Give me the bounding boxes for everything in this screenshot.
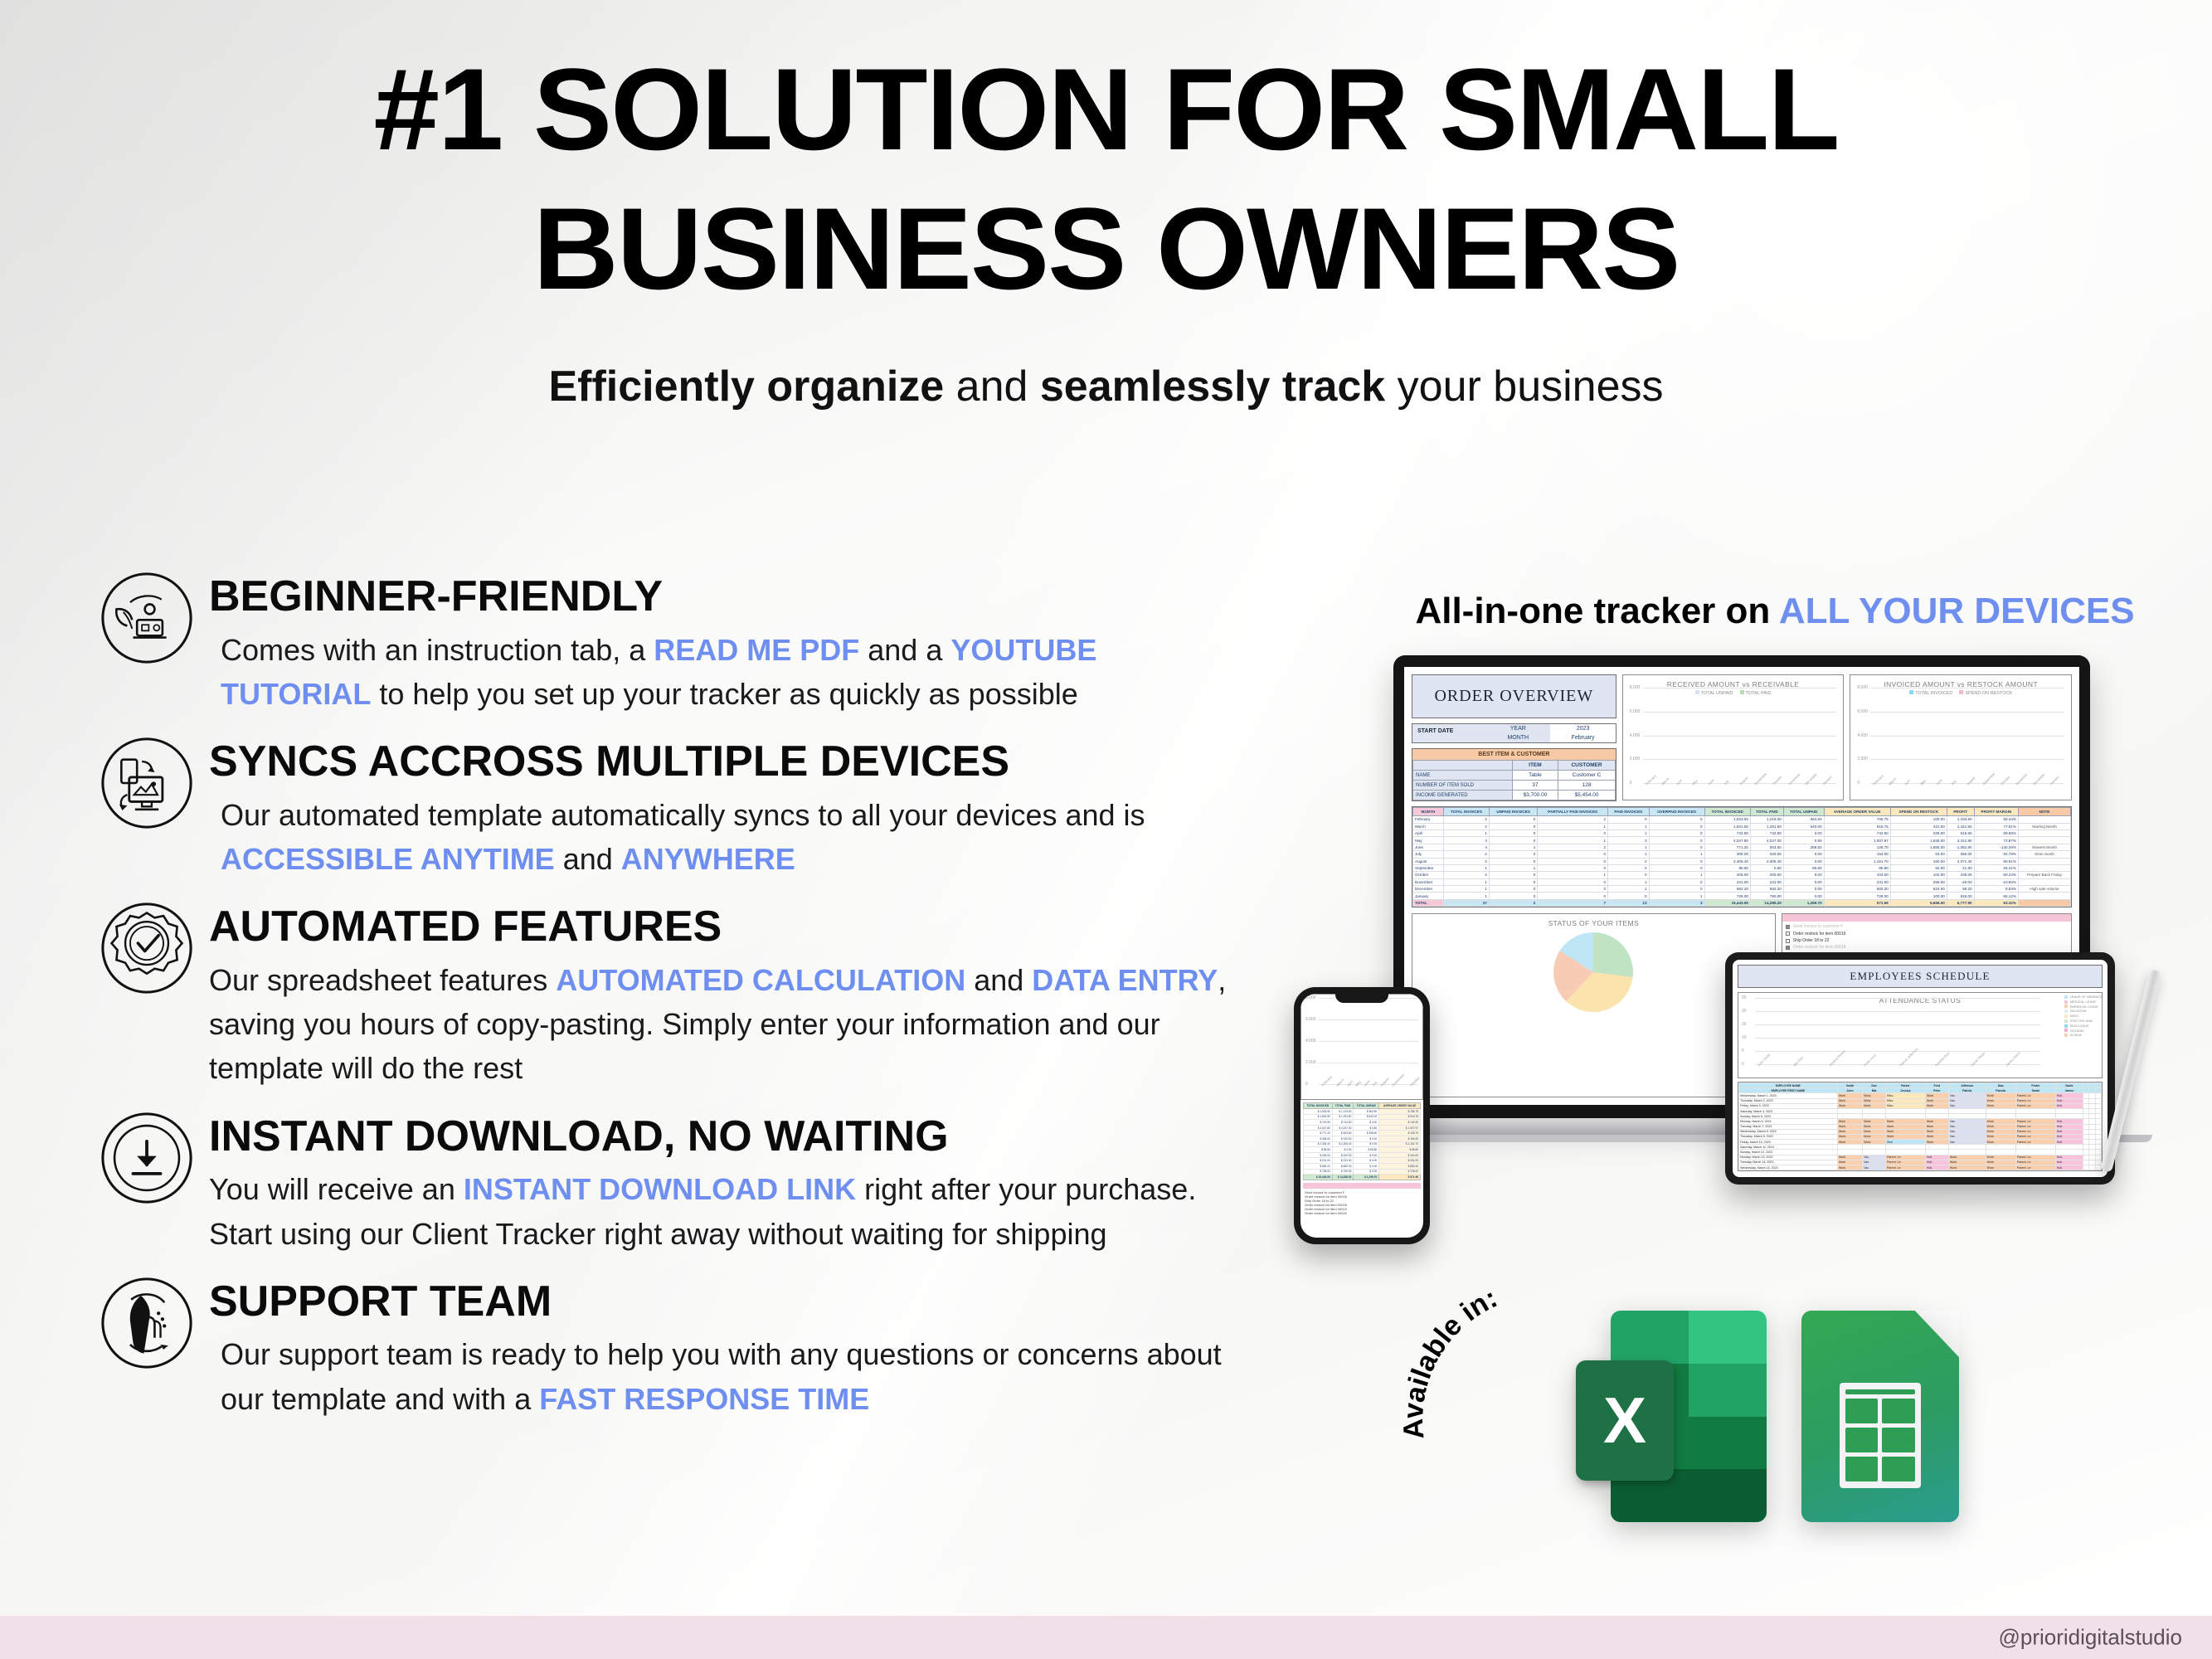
table-cell: 0	[1489, 886, 1537, 893]
y-tick: 2.000	[1630, 757, 1641, 761]
table-cell: 1,219.00	[1750, 816, 1783, 823]
table-cell: 4,047.00	[1750, 837, 1783, 844]
table-cell: 320.00	[1750, 851, 1783, 858]
table-cell: 27	[1443, 899, 1489, 906]
table-cell: 1	[1649, 851, 1704, 858]
table-cell: 0	[1489, 823, 1537, 829]
feature-body: INSTANT DOWNLOAD, NO WAITINGYou will rec…	[209, 1104, 1251, 1256]
year-value[interactable]: 2023	[1550, 724, 1615, 733]
feature-item-beginner-friendly: BEGINNER-FRIENDLYComes with an instructi…	[98, 564, 1251, 716]
feature-text: and a	[859, 633, 950, 667]
table-cell: 915.75	[1824, 823, 1890, 829]
table-cell: 728.00	[1824, 893, 1890, 899]
table-row: June41210771.20503.60268.60128.701,855.0…	[1413, 844, 2071, 850]
table-row: December10010682.20682.200.00682.20624.0…	[1413, 886, 2071, 893]
table-cell: March	[1413, 823, 1444, 829]
schedule-cell[interactable]: Parent. Le	[2015, 1170, 2055, 1171]
table-cell: -1,082.80	[1947, 844, 1974, 850]
feature-highlight[interactable]: INSTANT DOWNLOAD LINK	[464, 1172, 856, 1206]
table-cell	[2018, 864, 2070, 871]
todo-item[interactable]: Send invoice to customer F	[1786, 923, 2068, 930]
table-cell: 53.00	[1890, 851, 1947, 858]
table-row: $ 682.20$ 682.20$ 0.00$ 682.20	[1304, 1163, 1421, 1169]
table-cell: 0.00	[1783, 851, 1824, 858]
table-cell: October	[1413, 872, 1444, 878]
table-row: $ 2,305.40$ 2,305.40$ 0.00$ 1,151.70	[1304, 1141, 1421, 1147]
table-cell: 1	[1608, 851, 1650, 858]
table-cell: 200.00	[1750, 872, 1783, 878]
table-cell: 77.61%	[1974, 823, 2018, 829]
table-cell: 1	[1443, 886, 1489, 893]
table-row: July20011308.00320.000.00154.0053.00255.…	[1413, 851, 2071, 858]
schedule-cell[interactable]: Holi.	[1925, 1170, 1948, 1171]
column-header: TOTAL INVOICES	[1443, 808, 1489, 816]
feature-text: Comes with an instruction tab, a	[221, 633, 654, 667]
table-cell: 0	[1538, 878, 1608, 885]
table-cell: High sale volume	[2018, 886, 2070, 893]
y-tick: 4.000	[1857, 733, 1868, 738]
chart-legend: LEAVE OF ABSENCEMEDICAL LEAVEPARENTAL LE…	[2064, 995, 2103, 1038]
column-header: AVERAGE ORDER VALUE	[1824, 808, 1890, 816]
table-cell: Starting Month	[2018, 823, 2070, 829]
table-cell: 1,421.50	[1947, 823, 1974, 829]
table-cell: 104.00	[1890, 872, 1947, 878]
table-cell: 364.50	[1783, 816, 1824, 823]
todo-item[interactable]: Order restock for item 00018	[1786, 944, 2068, 951]
chart-plot: 0510152025John SmithMia DoeJessica Parke…	[1742, 1008, 2040, 1074]
table-cell: 100.00	[1890, 893, 1947, 899]
feature-list: BEGINNER-FRIENDLYComes with an instructi…	[98, 564, 1251, 1434]
y-tick: 8.000	[1305, 995, 1316, 1000]
y-tick: 6.000	[1630, 709, 1641, 714]
table-cell: 3	[1608, 837, 1650, 844]
table-row: $ 308.00$ 320.00$ 0.00$ 154.00	[1304, 1136, 1421, 1141]
table-cell: 1,533.50	[1704, 816, 1750, 823]
table-row: February202001,533.501,219.00364.50766.7…	[1413, 816, 2071, 823]
table-cell: 0.00	[1783, 830, 1824, 837]
subtitle-bold-2: seamlessly track	[1040, 362, 1385, 411]
table-cell	[2018, 893, 2070, 899]
chart-received-vs-receivable: RECEIVED AMOUNT vs RECEIVABLETOTAL UNPAI…	[1622, 674, 1845, 800]
footer-bar: @prioridigitalstudio	[0, 1616, 2212, 1659]
subtitle-tail: your business	[1385, 362, 1663, 411]
table-row: $ 209.00$ 200.00$ 9.00$ 104.00	[1304, 1152, 1421, 1158]
seedling-laptop-icon	[98, 569, 196, 667]
table-cell: -140.25%	[1974, 844, 2018, 850]
table-cell: 0.00	[1750, 864, 1783, 871]
table-cell	[2018, 837, 2070, 844]
table-row: April10010742.50742.500.00742.50226.0051…	[1413, 830, 2071, 837]
table-cell: 1,007.97	[1824, 837, 1890, 844]
todo-item[interactable]: Order restock for item 00016	[1786, 931, 2068, 937]
table-cell: 0	[1489, 837, 1537, 844]
table-cell: August	[1413, 858, 1444, 864]
feature-text: to help you set up your tracker as quick…	[371, 677, 1077, 711]
best-col-header: ITEM	[1512, 761, 1558, 771]
legend-entry: TOTAL PAID	[1740, 690, 1772, 696]
feature-title: INSTANT DOWNLOAD, NO WAITING	[209, 1114, 1251, 1160]
table-cell: 231.00	[1824, 878, 1890, 885]
table-row: October20101209.00200.009.00104.00104.00…	[1413, 872, 2071, 878]
column-header: TOTAL PAID	[1750, 808, 1783, 816]
table-cell: 1	[1538, 823, 1608, 829]
table-row: NAMETableCustomer C	[1413, 771, 1616, 781]
feature-highlight[interactable]: DATA ENTRY	[1032, 963, 1218, 997]
table-cell: 64.00	[1890, 864, 1947, 871]
feature-item-automated-features: AUTOMATED FEATURESOur spreadsheet featur…	[98, 894, 1251, 1090]
y-tick: 2.000	[1857, 757, 1868, 761]
table-cell: 8.53%	[1974, 886, 2018, 893]
status-pie-chart	[1553, 932, 1633, 1012]
table-cell: 0	[1649, 878, 1704, 885]
y-tick: 8.000	[1857, 685, 1868, 690]
page-subtitle: Efficiently organize and seamlessly trac…	[0, 362, 2212, 411]
table-cell: 2	[1538, 816, 1608, 823]
table-cell: 9.00	[1783, 872, 1824, 878]
monthly-summary-table: MONTHTOTAL INVOICESUNPAID INVOICESPARTIA…	[1412, 806, 2072, 907]
table-cell: 682.20	[1704, 886, 1750, 893]
table-row: NUMBER OF ITEM SOLD37128	[1413, 781, 1616, 791]
overview-title: ORDER OVERVIEW	[1412, 674, 1616, 718]
table-cell: 226.00	[1890, 830, 1947, 837]
table-cell: 0	[1608, 816, 1650, 823]
download-arrow-icon	[98, 1109, 196, 1207]
table-cell: 516.50	[1947, 830, 1974, 837]
schedule-date: Thursday, March 16, 2023	[1739, 1170, 1838, 1171]
table-cell: 0	[1489, 858, 1537, 864]
table-cell: -10.82%	[1974, 878, 2018, 885]
attendance-chart: ATTENDANCE STATUS0510152025John SmithMia…	[1738, 992, 2103, 1078]
feature-title: SYNCS ACCROSS MULTIPLE DEVICES	[209, 739, 1251, 785]
title-line-1: #1 SOLUTION FOR SMALL	[0, 0, 2212, 168]
table-cell: 728.00	[1704, 893, 1750, 899]
table-cell: 3	[1649, 899, 1704, 906]
table-cell: 2	[1489, 899, 1537, 906]
table-row: November10010231.00231.000.00231.00256.0…	[1413, 878, 2071, 885]
phone-table: TOTAL INVOICEDTOTAL PAIDTOTAL UNPAIDAVER…	[1300, 1100, 1423, 1183]
svg-text:Available in:: Available in:	[1398, 1282, 1502, 1441]
table-cell: 0	[1608, 872, 1650, 878]
table-cell	[2018, 816, 2070, 823]
y-tick: 8.000	[1630, 685, 1641, 690]
excel-logo-letter: X	[1576, 1360, 1674, 1481]
table-cell: 5,665.00	[1890, 899, 1947, 906]
chart-legend: TOTAL UNPAIDTOTAL PAID	[1630, 690, 1837, 696]
table-cell: 1	[1608, 844, 1650, 850]
table-row: May401304,047.804,047.000.801,007.971,63…	[1413, 837, 2071, 844]
todo-label: Send invoice to customer F	[1793, 924, 1844, 929]
table-cell: 50.24%	[1974, 872, 2018, 878]
table-cell: 4	[1443, 837, 1489, 844]
table-cell: Slow month	[2018, 851, 2070, 858]
y-tick: 0	[1305, 1082, 1308, 1087]
table-cell: 0	[1649, 837, 1704, 844]
table-cell: 1	[1489, 864, 1537, 871]
tablet-mockup: EMPLOYEES SCHEDULE ATTENDANCE STATUS0510…	[1725, 952, 2115, 1185]
table-cell: Prepare Back Friday	[2018, 872, 2070, 878]
table-cell: 1	[1443, 893, 1489, 899]
devices-headline-accent: ALL YOUR DEVICES	[1779, 591, 2135, 631]
column-header: PAID INVOICES	[1608, 808, 1650, 816]
table-cell: 1	[1443, 878, 1489, 885]
table-cell: 0.00	[1783, 878, 1824, 885]
table-cell: 0	[1489, 878, 1537, 885]
table-cell: 82.79%	[1974, 851, 2018, 858]
table-header-row: TOTAL INVOICEDTOTAL PAIDTOTAL UNPAIDAVER…	[1304, 1103, 1421, 1109]
feature-text: You will receive an	[209, 1172, 464, 1206]
y-tick: 4.000	[1305, 1039, 1316, 1044]
table-cell: 72.87%	[1974, 837, 2018, 844]
table-cell: 0.00	[1783, 886, 1824, 893]
table-cell: 1,635.00	[1890, 837, 1947, 844]
table-cell: 0	[1538, 858, 1608, 864]
feature-description: Our support team is ready to help you wi…	[209, 1332, 1251, 1421]
feature-body: SYNCS ACCROSS MULTIPLE DEVICESOur automa…	[209, 729, 1251, 881]
table-cell: 0	[1649, 886, 1704, 893]
table-cell: 85.12%	[1974, 893, 2018, 899]
schedule-cell[interactable]: Vac.	[1863, 1170, 1886, 1171]
table-cell: 0	[1489, 830, 1537, 837]
chart-plot: 02.0004.0006.0008.000FebruaryMarchAprilM…	[1630, 699, 1837, 795]
chart-legend: TOTAL INVOICEDSPEND ON RESTOCK	[1857, 690, 2064, 696]
y-tick: 6.000	[1857, 709, 1868, 714]
chart-x-labels: John SmithMia DoeJessica ParkerPeter For…	[1757, 1064, 2039, 1074]
table-cell: 1	[1608, 823, 1650, 829]
subtitle-bold-1: Efficiently organize	[548, 362, 944, 411]
month-value[interactable]: February	[1550, 733, 1615, 742]
table-cell: 105.00	[1947, 872, 1974, 878]
best-table-header: BEST ITEM & CUSTOMER	[1412, 749, 1616, 760]
feature-highlight[interactable]: READ ME PDF	[654, 633, 859, 667]
todo-label: Order restock for item 00018	[1793, 945, 1846, 950]
table-cell: 4,412.80	[1947, 837, 1974, 844]
table-cell: 1	[1538, 872, 1608, 878]
table-cell: 0.80	[1783, 837, 1824, 844]
table-cell: 2,305.40	[1704, 858, 1750, 864]
table-cell: 21.80	[1947, 864, 1974, 871]
feature-description: Our spreadsheet features AUTOMATED CALCU…	[209, 958, 1251, 1091]
table-cell: November	[1413, 878, 1444, 885]
table-cell: 13	[1608, 899, 1650, 906]
google-sheets-logo	[1801, 1311, 1959, 1522]
column-header: TOTAL UNPAID	[1783, 808, 1824, 816]
table-cell: 2,305.40	[1750, 858, 1783, 864]
schedule-cell[interactable]: Work	[1986, 1170, 2015, 1171]
feature-item-syncs-accross-multiple-devices: SYNCS ACCROSS MULTIPLE DEVICESOur automa…	[98, 729, 1251, 881]
todo-item[interactable]: Ship Order 18 to 22	[1786, 937, 2068, 944]
table-cell: -25.00	[1947, 878, 1974, 885]
table-row: INCOME GENERATED$3,700.00$5,454.00	[1413, 791, 1616, 800]
feature-body: AUTOMATED FEATURESOur spreadsheet featur…	[209, 894, 1251, 1090]
feature-highlight[interactable]: ANYWHERE	[621, 842, 795, 876]
table-row: August200202,305.402,305.400.001,151.701…	[1413, 858, 2071, 864]
table-cell: 682.20	[1824, 886, 1890, 893]
table-cell: 6,777.90	[1947, 899, 1974, 906]
year-label: YEAR	[1485, 724, 1550, 733]
y-tick: 0	[1630, 781, 1632, 786]
table-cell: 503.60	[1750, 844, 1783, 850]
chart-bars	[1645, 701, 1835, 783]
title-line-2: BUSINESS OWNERS	[0, 168, 2212, 307]
table-cell: 0	[1608, 864, 1650, 871]
table-cell: 1	[1608, 830, 1650, 837]
checkbox-icon[interactable]	[1786, 925, 1790, 929]
legend-entry: TOTAL INVOICED	[1909, 690, 1952, 696]
table-cell: 231.00	[1704, 878, 1750, 885]
y-tick: 4.000	[1630, 733, 1641, 738]
devices-headline: All-in-one tracker on ALL YOUR DEVICES	[1393, 591, 2156, 632]
table-cell: 100.00	[1890, 816, 1947, 823]
table-cell: 1,151.70	[1824, 858, 1890, 864]
column-header: TOTAL INVOICED	[1704, 808, 1750, 816]
phone-todo-header	[1303, 1183, 1421, 1189]
table-cell: 104.00	[1824, 872, 1890, 878]
table-cell: 1	[1489, 844, 1537, 850]
table-row: $ 4,047.80$ 4,047.00$ 0.80$ 1,007.97	[1304, 1125, 1421, 1131]
table-cell: 93.44%	[1974, 816, 2018, 823]
table-cell: 255.00	[1947, 851, 1974, 858]
tablet-display: EMPLOYEES SCHEDULE ATTENDANCE STATUS0510…	[1733, 960, 2107, 1177]
phone-chart: RECEIVED AMOUNT vs RECEIVABLE02.0004.000…	[1300, 994, 1423, 1100]
table-cell: 2	[1443, 816, 1489, 823]
table-cell: 85.80	[1824, 864, 1890, 871]
table-cell: July	[1413, 851, 1444, 858]
table-cell: 308.00	[1704, 851, 1750, 858]
feature-body: SUPPORT TEAMOur support team is ready to…	[209, 1269, 1251, 1421]
column-header: SPEND ON RESTOCK	[1890, 808, 1947, 816]
support-hand-icon	[98, 1274, 196, 1372]
table-cell: 150.00	[1890, 858, 1947, 864]
page-title: #1 SOLUTION FOR SMALL BUSINESS OWNERS	[0, 0, 2212, 307]
table-cell: 742.50	[1750, 830, 1783, 837]
table-cell: December	[1413, 886, 1444, 893]
checkbox-icon[interactable]	[1786, 932, 1790, 936]
table-cell: 2,071.40	[1947, 858, 1974, 864]
table-cell: 2	[1608, 858, 1650, 864]
status-chart-title: STATUS OF YOUR ITEMS	[1417, 919, 1770, 927]
chart-x-labels: FebruaryMarchAprilMayJuneJulyAugustSepte…	[1872, 783, 2063, 795]
best-col-header	[1413, 761, 1513, 771]
table-cell: 63.32%	[1974, 899, 2018, 906]
table-cell: 0	[1649, 823, 1704, 829]
column-header: UNPAID INVOICES	[1489, 808, 1537, 816]
table-cell: 69.56%	[1974, 830, 2018, 837]
table-row: $ 1,831.50$ 1,291.50$ 540.00$ 915.75	[1304, 1114, 1421, 1120]
table-cell: 0	[1538, 893, 1608, 899]
month-label: MONTH	[1485, 733, 1550, 742]
table-cell: 2	[1443, 823, 1489, 829]
legend-entry: TOTAL UNPAID	[1695, 690, 1733, 696]
feature-title: SUPPORT TEAM	[209, 1279, 1251, 1325]
feature-item-instant-download-no-waiting: INSTANT DOWNLOAD, NO WAITINGYou will rec…	[98, 1104, 1251, 1256]
table-row: Thursday, March 16, 2023WorkVac.Parent. …	[1739, 1170, 2102, 1171]
table-cell: 209.00	[1704, 872, 1750, 878]
x-tick: November	[1422, 1073, 1423, 1092]
table-cell: 231.00	[1750, 878, 1783, 885]
table-cell: 0	[1538, 864, 1608, 871]
schedule-cell[interactable]: Holi.	[2055, 1170, 2083, 1171]
table-total-row: $ 15,443.90$ 14,285.20$ 1,296.70$ 571.96	[1304, 1175, 1421, 1180]
column-header: OVERPAID INVOICES	[1649, 808, 1704, 816]
available-in-section: Available in: X	[1402, 1253, 2165, 1601]
gear-check-badge-icon	[98, 899, 196, 997]
table-cell: 90.61%	[1974, 858, 2018, 864]
table-cell: 742.50	[1704, 830, 1750, 837]
table-cell: 1	[1538, 837, 1608, 844]
table-cell: 1,855.00	[1890, 844, 1947, 850]
checkbox-icon[interactable]	[1786, 939, 1790, 943]
checkbox-icon[interactable]	[1786, 946, 1790, 950]
todo-label: Ship Order 18 to 22	[1793, 938, 1830, 943]
chart-plot: 02.0004.0006.0008.000FebruaryMarchAprilM…	[1857, 699, 2064, 795]
table-total-row: TOTAL272713315,443.9014,285.201,296.7057…	[1413, 899, 2071, 906]
legend-entry: At Work	[2064, 1033, 2103, 1038]
schedule-cell[interactable]: Work	[1837, 1170, 1862, 1171]
table-cell: 0.00	[1783, 893, 1824, 899]
best-col-header: CUSTOMER	[1558, 761, 1615, 771]
feature-highlight[interactable]: FAST RESPONSE TIME	[539, 1382, 869, 1416]
todo-item[interactable]: Order restock for item 00020	[1305, 1211, 1419, 1215]
table-cell: 618.00	[1947, 893, 1974, 899]
table-cell: 771.20	[1704, 844, 1750, 850]
table-cell: 760.00	[1750, 893, 1783, 899]
table-cell: 1	[1608, 878, 1650, 885]
table-cell: September	[1413, 864, 1444, 871]
start-date-label: START DATE	[1412, 724, 1485, 742]
subtitle-mid: and	[944, 362, 1040, 411]
chart-x-labels: FebruaryMarchAprilMayJuneJulyAugustSepte…	[1645, 783, 1835, 795]
todo-label: Order restock for item 00020	[1305, 1211, 1347, 1215]
feature-highlight[interactable]: ACCESSIBLE ANYTIME	[221, 842, 555, 876]
table-cell: 154.00	[1824, 851, 1890, 858]
table-row: $ 728.00$ 760.00$ 0.00$ 728.00	[1304, 1169, 1421, 1175]
chart-plot: 02.0004.0006.0008.000FebruaryMarchAprilM…	[1305, 1010, 1418, 1096]
table-cell: 0	[1538, 830, 1608, 837]
table-cell: 15,443.90	[1704, 899, 1750, 906]
table-row: $ 742.50$ 742.50$ 0.00$ 742.50	[1304, 1120, 1421, 1126]
table-cell: February	[1413, 816, 1444, 823]
feature-item-support-team: SUPPORT TEAMOur support team is ready to…	[98, 1269, 1251, 1421]
table-row: $ 231.00$ 231.00$ 0.00$ 231.00	[1304, 1158, 1421, 1164]
excel-logo: X	[1576, 1311, 1767, 1522]
feature-text: and	[555, 842, 621, 876]
table-cell: 1	[1649, 872, 1704, 878]
table-cell: 2	[1443, 858, 1489, 864]
table-cell: 128.70	[1824, 844, 1890, 850]
table-cell: 1,831.50	[1704, 823, 1750, 829]
table-row: $ 771.20$ 503.60$ 268.60$ 128.70	[1304, 1131, 1421, 1136]
schedule-cell[interactable]: Parent. Le	[1885, 1170, 1925, 1171]
table-cell: 1	[1608, 886, 1650, 893]
phone-bezel: RECEIVED AMOUNT vs RECEIVABLE02.0004.000…	[1294, 987, 1430, 1244]
table-cell: 766.75	[1824, 816, 1890, 823]
legend-entry: SPEND ON RESTOCK	[1959, 690, 2012, 696]
table-cell: 682.20	[1750, 886, 1783, 893]
table-cell: 85.80	[1783, 864, 1824, 871]
schedule-cell[interactable]: Work	[1948, 1170, 1986, 1171]
feature-title: BEGINNER-FRIENDLY	[209, 574, 1251, 620]
phone-notch	[1335, 994, 1388, 1003]
y-tick: 0	[1857, 781, 1860, 786]
brand-handle: @prioridigitalstudio	[1999, 1625, 2183, 1651]
phone-display: RECEIVED AMOUNT vs RECEIVABLE02.0004.000…	[1300, 994, 1423, 1238]
table-row: September1100085.800.0085.8085.8064.0021…	[1413, 864, 2071, 871]
table-cell: 2	[1538, 844, 1608, 850]
format-logos: X	[1576, 1311, 1959, 1522]
table-cell: 0	[1489, 872, 1537, 878]
feature-highlight[interactable]: AUTOMATED CALCULATION	[556, 963, 965, 997]
table-cell: 14,285.20	[1750, 899, 1783, 906]
